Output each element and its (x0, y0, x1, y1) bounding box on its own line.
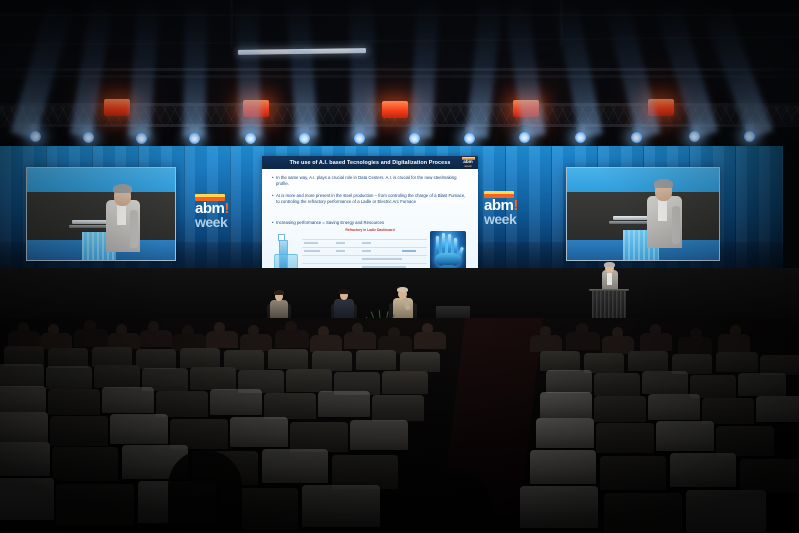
audience-chair (210, 389, 262, 415)
audience-chair (190, 367, 236, 390)
audience-chair (4, 346, 44, 366)
audience-chair (262, 449, 328, 483)
audience-shoulders (414, 332, 446, 349)
audience-shoulders (678, 337, 712, 355)
slide-title: The use of A.I. based Tecnologies and Di… (262, 156, 478, 169)
audience-shoulders (718, 334, 750, 352)
table-row (302, 263, 427, 264)
audience-chair (52, 447, 118, 481)
slide-bullet-2: AI is more and more present in the steel… (272, 193, 466, 204)
audience-chair (372, 395, 424, 421)
audience-chair (540, 351, 580, 371)
audience-shoulders (8, 331, 40, 347)
audience-chair (594, 373, 640, 396)
conference-stage-photo: abm! week abm! week The use of A.I. base… (0, 0, 799, 533)
audience-chair (286, 369, 332, 392)
audience-chair (0, 412, 48, 442)
audience-chair (230, 417, 288, 447)
wall-panel-seam (735, 146, 736, 268)
audience-chair (716, 426, 774, 456)
audience-chair (332, 455, 398, 489)
audience-shoulders (140, 330, 172, 347)
feed-speaker-arm (672, 206, 680, 244)
audience-chair (596, 423, 654, 453)
audience-chair (356, 350, 396, 370)
table-row (302, 239, 427, 240)
audience-shoulders (240, 334, 272, 351)
table-cell (304, 242, 318, 244)
audience-chair (318, 391, 370, 417)
robot-finger (442, 233, 445, 255)
foreground-audience-silhouette (168, 450, 242, 533)
audience-chair (540, 392, 592, 418)
audience-chair (594, 396, 646, 422)
audience-chair (400, 352, 440, 372)
logo-text-week: week (195, 216, 229, 229)
audience-chair (110, 414, 168, 444)
table-row (302, 247, 427, 248)
audience-chair (656, 421, 714, 451)
blinder-light-3 (382, 101, 408, 118)
audience-chair (382, 371, 428, 394)
audience-chair (670, 453, 736, 487)
feed-background-upper (567, 168, 719, 192)
audience-chair (0, 364, 44, 387)
imag-screen-right (566, 167, 720, 261)
panelist-hair (274, 290, 284, 295)
audience-shoulders (310, 335, 342, 352)
panelist-hair (339, 289, 349, 294)
audience-chair (302, 485, 380, 527)
audience-shoulders (344, 332, 376, 349)
audience-chair (0, 478, 54, 520)
panelist-hair (397, 287, 408, 292)
audience-chair (642, 371, 688, 394)
audience-shoulders (40, 333, 72, 349)
audience-chair (50, 416, 108, 446)
audience-shoulders (530, 335, 562, 352)
slide-header-logo: abm week (460, 157, 476, 168)
audience-chair (350, 420, 408, 450)
audience-chair (600, 456, 666, 490)
audience-chair (102, 387, 154, 413)
robot-finger (448, 234, 451, 255)
audience-chair (716, 352, 758, 372)
light-beam (183, 0, 207, 137)
table-cell (362, 258, 402, 260)
audience-area (0, 318, 799, 533)
feed-background-upper (27, 168, 175, 192)
audience-chair (648, 394, 700, 420)
wall-panel-seam (230, 146, 231, 268)
audience-chair (546, 370, 592, 393)
audience-chair (46, 366, 92, 389)
slide-bullet-3: Increasing performance = Saving Energy a… (272, 220, 466, 226)
table-cell (362, 242, 371, 244)
abm-week-logo-left: abm! week (195, 194, 229, 229)
audience-chair (48, 389, 100, 415)
abm-week-logo-right: abm! week (484, 191, 518, 226)
audience-chair (756, 396, 799, 422)
table-row (302, 255, 427, 256)
light-beam (350, 0, 376, 137)
audience-chair (92, 347, 132, 367)
logo-text-week: week (484, 213, 518, 226)
audience-chair (56, 484, 134, 526)
audience-chair (686, 490, 766, 532)
blinder-light-1 (104, 99, 130, 116)
feed-speaker-hair (654, 179, 673, 188)
panelist-torso (270, 300, 288, 320)
imag-screen-left (26, 167, 176, 261)
podium-top-surface (589, 289, 629, 291)
podium-speaker-shirt (607, 273, 612, 285)
audience-chair (760, 355, 799, 375)
audience-chair (136, 349, 176, 369)
robot-finger (436, 236, 439, 255)
audience-chair (0, 386, 46, 412)
table-cell (336, 250, 345, 252)
audience-chair (0, 442, 50, 476)
audience-shoulders (74, 329, 108, 347)
wall-panel-seam (184, 146, 185, 268)
feed-speaker-shirt (658, 199, 667, 221)
audience-shoulders (566, 332, 600, 350)
audience-chair (740, 459, 799, 493)
audience-chair (180, 348, 220, 368)
speaker-podium-group (578, 264, 638, 324)
audience-chair (530, 450, 596, 484)
table-cell (336, 242, 345, 244)
audience-shoulders (206, 331, 238, 348)
feed-speaker-arm (130, 210, 138, 248)
slide-body: In the same way, A.I. plays a crucial ro… (262, 169, 478, 280)
light-beam (235, 0, 262, 137)
audience-chair (94, 365, 140, 388)
podium-speaker-hair (604, 262, 615, 267)
audience-chair (268, 349, 308, 369)
audience-chair (738, 373, 786, 396)
audience-chair (312, 351, 352, 371)
table-cell (362, 250, 371, 252)
feed-speaker-hair (113, 184, 132, 193)
audience-chair (264, 393, 316, 419)
audience-chair (290, 422, 348, 452)
presentation-slide: The use of A.I. based Tecnologies and Di… (262, 156, 478, 280)
ceiling-beam (230, 0, 233, 48)
audience-chair (520, 486, 598, 528)
truss-chord-bottom (0, 124, 799, 127)
audience-chair (48, 348, 88, 368)
audience-chair (604, 493, 682, 533)
audience-shoulders (275, 330, 309, 348)
audience-shoulders (640, 333, 672, 351)
feed-speaker-shirt (117, 203, 126, 225)
audience-chair (536, 418, 594, 448)
slide-bullet-1: In the same way, A.I. plays a crucial ro… (272, 175, 466, 186)
wall-panel-seam (551, 146, 552, 268)
logo-text-week: week (460, 165, 476, 168)
audience-chair (628, 351, 668, 371)
table-cell (402, 250, 416, 252)
table-cell (304, 250, 320, 252)
